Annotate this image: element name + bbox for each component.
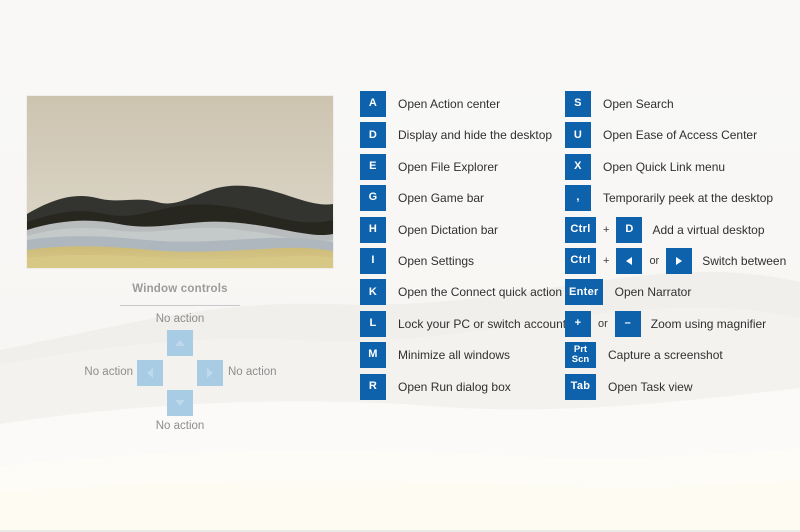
arrow-left-icon[interactable] [616,248,642,274]
shortcut-description: Open Action center [386,91,500,117]
key-tab[interactable]: Tab [565,374,596,400]
shortcut-row: ,Temporarily peek at the desktop [565,185,800,216]
shortcut-description: Open Game bar [386,185,484,211]
shortcut-description: Zoom using magnifier [641,311,766,337]
key-a[interactable]: A [360,91,386,117]
key-k[interactable]: K [360,279,386,305]
key-joiner-secondary: or [642,248,666,274]
shortcut-description: Add a virtual desktop [642,217,764,243]
shortcut-row: SOpen Search [565,91,800,122]
key-print-screen-line2: Scn [572,355,589,365]
shortcut-description: Open Narrator [603,279,692,305]
shortcut-description: Temporarily peek at the desktop [591,185,773,211]
arrow-right-icon-glyph [676,257,682,265]
dpad-left-action-label: No action [45,366,133,378]
key-h[interactable]: H [360,217,386,243]
shortcut-description: Switch between [692,248,786,274]
key-print-screen[interactable]: PrtScn [565,342,596,368]
dpad-right-key[interactable] [197,360,223,386]
shortcut-description: Lock your PC or switch accounts [386,311,572,337]
dpad-left-key[interactable] [137,360,163,386]
shortcut-description: Open Task view [596,374,693,400]
shortcut-description: Open File Explorer [386,154,498,180]
shortcut-row: IOpen Settings [360,248,560,279]
arrow-left-icon-glyph [626,257,632,265]
key-ctrl[interactable]: Ctrl [565,248,596,274]
shortcut-row: TabOpen Task view [565,374,800,405]
shortcut-row: LLock your PC or switch accounts [360,311,560,342]
wallpaper-thumbnail[interactable] [27,96,333,268]
shortcut-row: EnterOpen Narrator [565,279,800,310]
shortcut-description: Open the Connect quick action [386,279,562,305]
shortcut-row: AOpen Action center [360,91,560,122]
shortcut-description: Display and hide the desktop [386,122,552,148]
shortcuts-overview-page: Window controls No action No action No a… [0,0,800,532]
key-,[interactable]: , [565,185,591,211]
shortcut-row: XOpen Quick Link menu [565,154,800,185]
key-joiner: + [596,248,616,274]
key-+[interactable]: + [565,311,591,337]
shortcut-row: ROpen Run dialog box [360,374,560,405]
window-controls-panel: Window controls No action No action No a… [60,283,300,443]
shortcut-row: EOpen File Explorer [360,154,560,185]
key-d[interactable]: D [616,217,642,243]
wallpaper-thumbnail-image [27,96,333,268]
key-r[interactable]: R [360,374,386,400]
dpad-right-action-label: No action [228,366,277,378]
shortcut-row: UOpen Ease of Access Center [565,122,800,153]
shortcut-description: Open Settings [386,248,474,274]
dpad-down-action-label: No action [60,420,300,432]
shortcut-row: GOpen Game bar [360,185,560,216]
shortcut-description: Minimize all windows [386,342,510,368]
key-m[interactable]: M [360,342,386,368]
arrow-left-icon [147,368,153,378]
key-e[interactable]: E [360,154,386,180]
shortcut-row: DDisplay and hide the desktop [360,122,560,153]
key-l[interactable]: L [360,311,386,337]
key-i[interactable]: I [360,248,386,274]
dpad-down-key[interactable] [167,390,193,416]
dpad-up-key[interactable] [167,330,193,356]
shortcut-list-left: AOpen Action centerDDisplay and hide the… [360,91,560,405]
window-controls-divider [120,305,240,306]
key-g[interactable]: G [360,185,386,211]
window-controls-title: Window controls [60,283,300,295]
key-d[interactable]: D [360,122,386,148]
key-–[interactable]: – [615,311,641,337]
shortcut-description: Open Ease of Access Center [591,122,757,148]
shortcut-description: Open Quick Link menu [591,154,725,180]
shortcut-description: Open Run dialog box [386,374,511,400]
arrow-right-icon [207,368,213,378]
key-u[interactable]: U [565,122,591,148]
shortcut-description: Open Dictation bar [386,217,498,243]
key-ctrl[interactable]: Ctrl [565,217,596,243]
key-joiner: or [591,311,615,337]
arrow-down-icon [175,400,185,406]
shortcut-row: +or–Zoom using magnifier [565,311,800,342]
shortcut-row: KOpen the Connect quick action [360,279,560,310]
key-enter[interactable]: Enter [565,279,603,305]
shortcut-list-right: SOpen SearchUOpen Ease of Access CenterX… [565,91,800,405]
key-joiner: + [596,217,616,243]
shortcut-row: Ctrl+DAdd a virtual desktop [565,217,800,248]
arrow-up-icon [175,340,185,346]
key-s[interactable]: S [565,91,591,117]
shortcut-description: Capture a screenshot [596,342,723,368]
shortcut-row: PrtScnCapture a screenshot [565,342,800,373]
shortcut-description: Open Search [591,91,674,117]
dpad-up-action-label: No action [60,313,300,325]
shortcut-row: MMinimize all windows [360,342,560,373]
shortcut-row: Ctrl+orSwitch between [565,248,800,279]
key-x[interactable]: X [565,154,591,180]
arrow-right-icon[interactable] [666,248,692,274]
shortcut-row: HOpen Dictation bar [360,217,560,248]
